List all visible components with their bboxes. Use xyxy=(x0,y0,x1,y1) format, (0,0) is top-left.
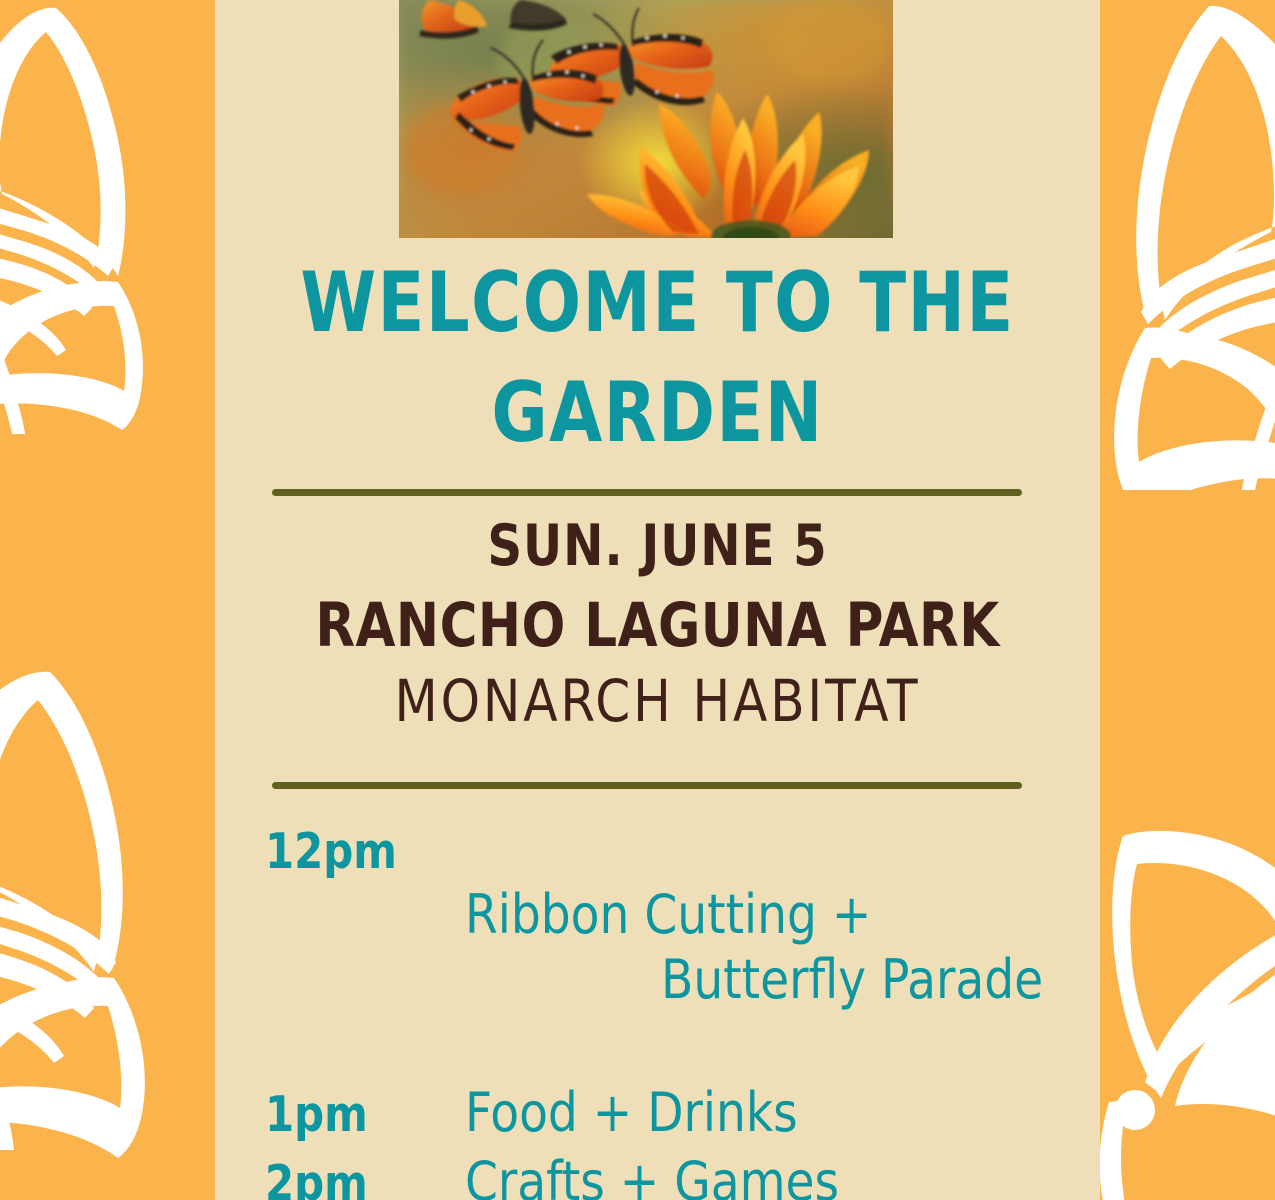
schedule-description: Food + Drinks xyxy=(465,1081,1057,1146)
schedule-row: 12pm Ribbon Cutting + Butterfly Parade xyxy=(265,818,1075,1077)
event-date: SUN. JUNE 5 xyxy=(251,518,1064,575)
schedule-time: 12pm xyxy=(265,823,455,881)
schedule-time: 2pm xyxy=(265,1155,455,1200)
hero-photo xyxy=(399,0,893,238)
event-details: SUN. JUNE 5 RANCHO LAGUNA PARK MONARCH H… xyxy=(225,518,1090,730)
butterfly-wing-icon-top-left xyxy=(0,0,226,434)
schedule-description: Crafts + Games xyxy=(465,1150,1057,1200)
page-title: WELCOME TO THE GARDEN xyxy=(287,248,1028,467)
content-panel: WELCOME TO THE GARDEN SUN. JUNE 5 RANCHO… xyxy=(215,0,1100,1200)
butterfly-wing-icon-bottom-left xyxy=(0,648,234,1200)
divider-bottom xyxy=(272,782,1022,789)
schedule-description: Ribbon Cutting + Butterfly Parade xyxy=(465,818,1057,1077)
event-poster: WELCOME TO THE GARDEN SUN. JUNE 5 RANCHO… xyxy=(0,0,1275,1200)
event-subvenue: MONARCH HABITAT xyxy=(242,672,1072,730)
schedule-description-line2: Butterfly Parade xyxy=(465,948,1057,1013)
schedule-row: 1pm Food + Drinks xyxy=(265,1081,1075,1146)
event-venue: RANCHO LAGUNA PARK xyxy=(251,595,1064,656)
schedule-description-line1: Ribbon Cutting + xyxy=(465,883,871,946)
event-schedule: 12pm Ribbon Cutting + Butterfly Parade 1… xyxy=(265,818,1075,1200)
schedule-row: 2pm Crafts + Games xyxy=(265,1150,1075,1200)
schedule-time: 1pm xyxy=(265,1086,455,1144)
divider-top xyxy=(272,489,1022,496)
